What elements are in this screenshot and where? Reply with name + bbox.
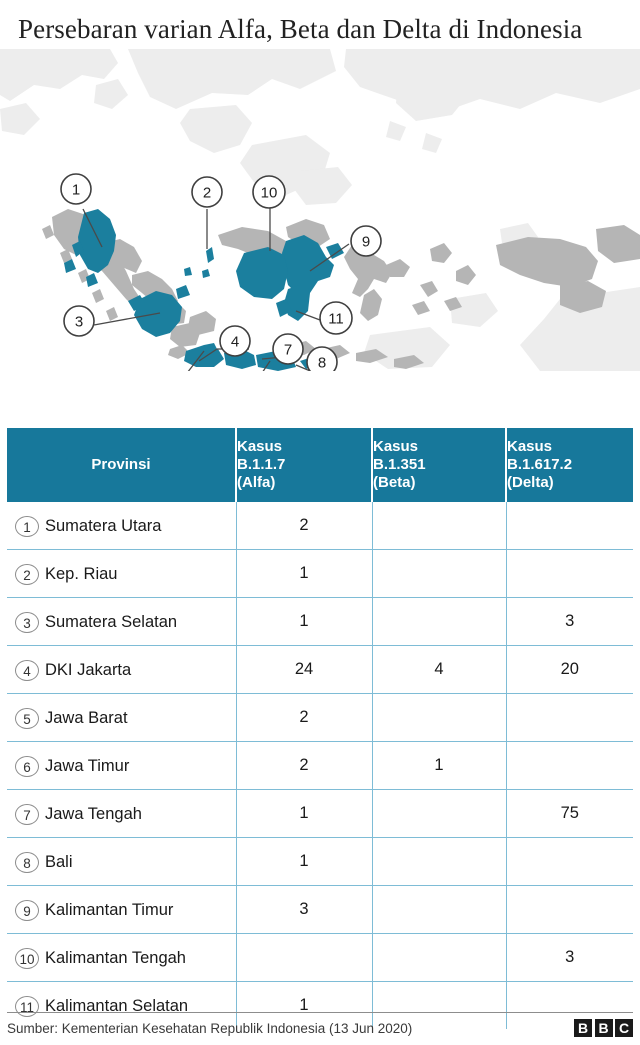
row-province-cell: 10Kalimantan Tengah [7, 934, 236, 982]
province-kalimantan-timur [282, 235, 334, 295]
row-beta-value: 1 [372, 742, 506, 790]
row-delta-value: 75 [506, 790, 633, 838]
indonesia-map: 1 2 3 4 5 6 7 8 [0, 49, 640, 371]
row-alfa-value: 1 [236, 838, 372, 886]
map-callout-label: 1 [72, 182, 80, 199]
row-delta-value [506, 838, 633, 886]
row-province-cell: 3Sumatera Selatan [7, 598, 236, 646]
page-title: Persebaran varian Alfa, Beta dan Delta d… [0, 0, 640, 45]
row-number-badge: 5 [15, 708, 39, 729]
row-alfa-value [236, 934, 372, 982]
row-beta-value [372, 694, 506, 742]
column-header-provinsi: Provinsi [7, 428, 236, 502]
row-alfa-value: 3 [236, 886, 372, 934]
map-callout-label: 8 [318, 355, 326, 372]
row-beta-value [372, 790, 506, 838]
row-province-cell: 1Sumatera Utara [7, 502, 236, 550]
row-alfa-value: 2 [236, 742, 372, 790]
province-kep-riau [206, 247, 214, 263]
column-header-label: Provinsi [91, 456, 150, 473]
map-callout-4: 4 [220, 326, 250, 356]
row-beta-value [372, 502, 506, 550]
row-number-badge: 8 [15, 852, 39, 873]
row-province-label: Sumatera Utara [45, 517, 161, 535]
map-callout-label: 3 [75, 314, 83, 331]
row-province-cell: 5Jawa Barat [7, 694, 236, 742]
column-header-alfa: Kasus B.1.1.7 (Alfa) [236, 428, 372, 502]
province-jawa-barat [184, 345, 224, 367]
map-callout-label: 11 [328, 311, 344, 328]
row-number-badge: 2 [15, 564, 39, 585]
column-header-line2: B.1.351 [373, 456, 505, 474]
row-province-label: Jawa Timur [45, 757, 129, 775]
bbc-logo-letter: C [615, 1019, 633, 1037]
row-beta-value [372, 550, 506, 598]
map-callout-2: 2 [192, 177, 222, 207]
row-province-cell: 9Kalimantan Timur [7, 886, 236, 934]
row-number-badge: 9 [15, 900, 39, 921]
variant-cases-table: Provinsi Kasus B.1.1.7 (Alfa) Kasus B.1.… [7, 428, 633, 1029]
table-row: 1Sumatera Utara 2 [7, 502, 633, 550]
row-province-label: Kalimantan Tengah [45, 949, 186, 967]
row-alfa-value: 24 [236, 646, 372, 694]
row-delta-value: 3 [506, 598, 633, 646]
row-alfa-value: 2 [236, 694, 372, 742]
column-header-delta: Kasus B.1.617.2 (Delta) [506, 428, 633, 502]
table-row: 6Jawa Timur 2 1 [7, 742, 633, 790]
row-number-badge: 7 [15, 804, 39, 825]
row-province-cell: 8Bali [7, 838, 236, 886]
row-province-label: Kalimantan Timur [45, 901, 173, 919]
row-province-cell: 7Jawa Tengah [7, 790, 236, 838]
row-province-cell: 4DKI Jakarta [7, 646, 236, 694]
column-header-line3: (Alfa) [237, 474, 371, 492]
row-province-label: Jawa Tengah [45, 805, 142, 823]
row-province-label: DKI Jakarta [45, 661, 131, 679]
map-callout-label: 7 [284, 342, 292, 359]
row-delta-value [506, 550, 633, 598]
map-callout-1: 1 [61, 174, 91, 204]
table-row: 3Sumatera Selatan 1 3 [7, 598, 633, 646]
row-province-cell: 2Kep. Riau [7, 550, 236, 598]
table-row: 7Jawa Tengah 1 75 [7, 790, 633, 838]
row-number-badge: 10 [15, 948, 39, 969]
row-beta-value: 4 [372, 646, 506, 694]
bbc-logo-letter: B [595, 1019, 613, 1037]
table-row: 10Kalimantan Tengah 3 [7, 934, 633, 982]
row-province-label: Jawa Barat [45, 709, 128, 727]
column-header-line3: (Beta) [373, 474, 505, 492]
map-callout-11: 11 [320, 302, 352, 334]
bbc-logo: B B C [574, 1019, 633, 1037]
column-header-beta: Kasus B.1.351 (Beta) [372, 428, 506, 502]
column-header-line1: Kasus [373, 438, 505, 456]
row-delta-value: 3 [506, 934, 633, 982]
map-callout-label: 9 [362, 234, 370, 251]
table-row: 5Jawa Barat 2 [7, 694, 633, 742]
table-row: 8Bali 1 [7, 838, 633, 886]
row-alfa-value: 1 [236, 790, 372, 838]
row-delta-value [506, 502, 633, 550]
row-number-badge: 6 [15, 756, 39, 777]
row-province-label: Kep. Riau [45, 565, 117, 583]
table-row: 2Kep. Riau 1 [7, 550, 633, 598]
column-header-line2: B.1.617.2 [507, 456, 633, 474]
row-number-badge: 3 [15, 612, 39, 633]
row-alfa-value: 2 [236, 502, 372, 550]
column-header-line2: B.1.1.7 [237, 456, 371, 474]
column-header-line1: Kasus [237, 438, 371, 456]
table-header-row: Provinsi Kasus B.1.1.7 (Alfa) Kasus B.1.… [7, 428, 633, 502]
map-callout-10: 10 [253, 176, 285, 208]
column-header-line1: Kasus [507, 438, 633, 456]
column-header-line3: (Delta) [507, 474, 633, 492]
row-province-cell: 6Jawa Timur [7, 742, 236, 790]
row-delta-value [506, 886, 633, 934]
map-callout-3: 3 [64, 306, 94, 336]
table-row: 4DKI Jakarta 24 4 20 [7, 646, 633, 694]
row-beta-value [372, 886, 506, 934]
row-alfa-value: 1 [236, 598, 372, 646]
bbc-logo-letter: B [574, 1019, 592, 1037]
map-callout-9: 9 [351, 226, 381, 256]
row-number-badge: 1 [15, 516, 39, 537]
map-callout-7: 7 [273, 334, 303, 364]
row-province-label: Bali [45, 853, 73, 871]
map-callout-label: 4 [231, 334, 239, 351]
row-number-badge: 4 [15, 660, 39, 681]
row-delta-value: 20 [506, 646, 633, 694]
row-delta-value [506, 694, 633, 742]
row-beta-value [372, 598, 506, 646]
row-delta-value [506, 742, 633, 790]
row-province-label: Sumatera Selatan [45, 613, 177, 631]
source-text: Sumber: Kementerian Kesehatan Republik I… [7, 1021, 412, 1036]
footer: Sumber: Kementerian Kesehatan Republik I… [7, 1012, 633, 1037]
map-callout-label: 10 [261, 185, 278, 202]
province-kalimantan-tengah [236, 247, 288, 299]
map-svg: 1 2 3 4 5 6 7 8 [0, 49, 640, 371]
row-beta-value [372, 934, 506, 982]
row-alfa-value: 1 [236, 550, 372, 598]
map-callout-label: 2 [203, 185, 211, 202]
table-row: 9Kalimantan Timur 3 [7, 886, 633, 934]
row-beta-value [372, 838, 506, 886]
map-callout-8: 8 [307, 347, 337, 371]
